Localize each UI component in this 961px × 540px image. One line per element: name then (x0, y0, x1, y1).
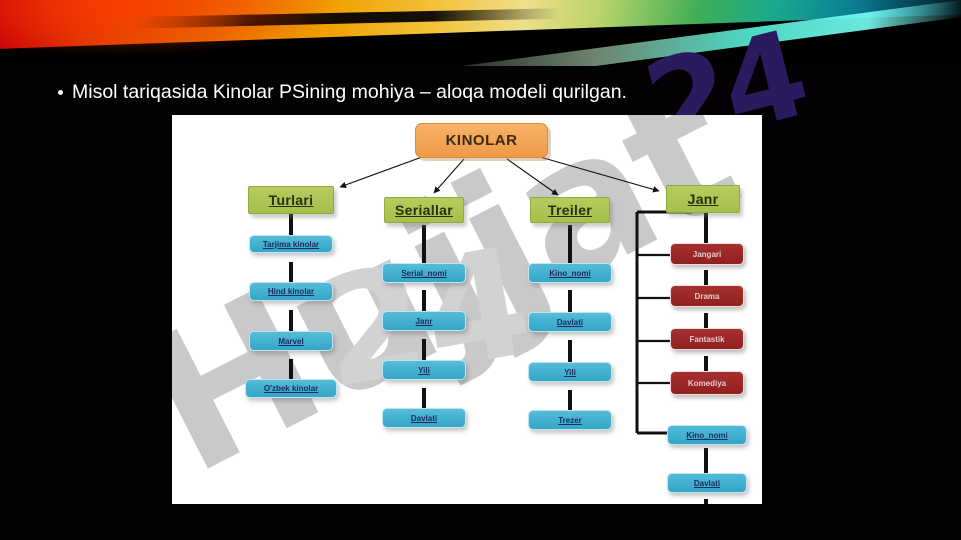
node-marvel[interactable]: Marvel (249, 331, 333, 351)
node-fantastik[interactable]: Fantastik (670, 328, 744, 350)
slide-body-text: Misol tariqasida Kinolar PSining mohiya … (72, 80, 627, 104)
diagram-image: Hujjat 24 (172, 115, 762, 504)
node-ozbek-kinolar[interactable]: O'zbek kinolar (245, 379, 337, 398)
node-kinolar[interactable]: KINOLAR (415, 123, 548, 158)
node-janr-davlati[interactable]: Davlati (667, 473, 747, 493)
node-drama[interactable]: Drama (670, 285, 744, 307)
node-komediya[interactable]: Komediya (670, 371, 744, 395)
bullet-dot-icon (58, 90, 63, 95)
node-seriallar-davlati[interactable]: Davlati (382, 408, 466, 428)
node-treiler-trezer[interactable]: Trezer (528, 410, 612, 430)
slide: 24 Misol tariqasida Kinolar PSining mohi… (0, 0, 961, 540)
diagram-edges (172, 115, 762, 504)
bullet-line: Misol tariqasida Kinolar PSining mohiya … (58, 78, 918, 106)
node-treiler-davlati[interactable]: Davlati (528, 312, 612, 332)
node-janr[interactable]: Janr (666, 185, 740, 213)
node-serial-nomi[interactable]: Serial_nomi (382, 263, 466, 283)
node-tarjima-kinolar[interactable]: Tarjima kinolar (249, 235, 333, 253)
node-hind-kinolar[interactable]: Hind kinolar (249, 282, 333, 301)
diagram-canvas: KINOLAR Turlari Tarjima kinolar Hind kin… (172, 115, 762, 504)
node-seriallar-janr[interactable]: Janr (382, 311, 466, 331)
node-treiler-kino-nomi[interactable]: Kino_nomi (528, 263, 612, 283)
node-janr-kino-nomi[interactable]: Kino_nomi (667, 425, 747, 445)
node-treiler[interactable]: Treiler (530, 197, 610, 223)
node-seriallar[interactable]: Seriallar (384, 197, 464, 223)
node-jangari[interactable]: Jangari (670, 243, 744, 265)
node-treiler-yili[interactable]: Yili (528, 362, 612, 382)
node-turlari[interactable]: Turlari (248, 186, 334, 214)
node-seriallar-yili[interactable]: Yili (382, 360, 466, 380)
